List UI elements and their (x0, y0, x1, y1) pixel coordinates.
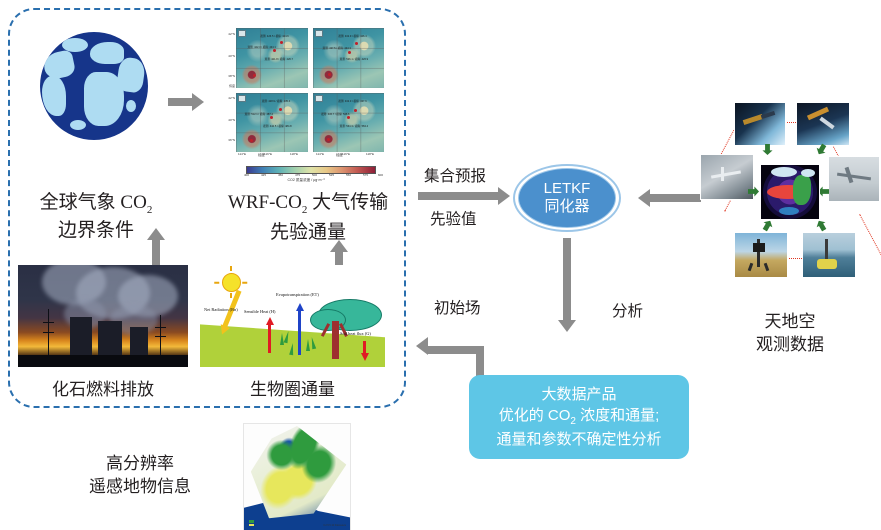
bigdata-line-2: 优化的 CO2 浓度和通量; (499, 405, 660, 429)
satellite-tile-top-right (796, 102, 850, 146)
label-evapotranspiration: Evapotranspiration (ET) (276, 292, 319, 297)
plot-panel-c: 观测: 428.9 / 模拟: 435.4 观测: 512.1 / 模拟: 48… (236, 93, 308, 153)
biosphere-flux-diagram: Net Radiation (Rn) Sensible Heat (H) Eva… (200, 265, 385, 367)
panel-letter-d (315, 95, 323, 102)
label-prior-flux: 先验通量 (212, 220, 404, 246)
observation-network-collage (704, 106, 876, 276)
sensible-heat-arrow (267, 317, 272, 353)
label-analysis: 分析 (612, 299, 643, 321)
label-global-boundary: 全球气象 CO2 边界条件 (34, 190, 158, 244)
panel-letter-b (315, 30, 323, 37)
label-fossil-fuel: 化石燃料排放 (18, 378, 188, 401)
label-wrf-transport: WRF-CO2 大气传输 (212, 190, 404, 218)
sun-icon (222, 273, 241, 292)
tower-station-tile-bottom-left (734, 232, 788, 278)
panel-letter-a (238, 30, 246, 37)
wrf-co2-simulation-panels: 42°N 40°N 38°N 纬度 42°N 40°N 36°N 观测: 426… (222, 28, 390, 180)
inward-arrow-bottom-left (760, 218, 775, 233)
arrow-ensemble-to-letkf (418, 187, 514, 205)
soil-heat-flux-arrow (360, 341, 369, 363)
plot-panel-d: 观测: 432.3 / 模拟: 437.6 观测: 436.7 / 模拟: 54… (313, 93, 385, 153)
global-ocean-map-tile (760, 164, 820, 220)
bigdata-line-3: 通量和参数不确定性分析 (496, 429, 661, 450)
label-prior-value: 先验值 (430, 207, 477, 229)
tree-trunk (332, 321, 339, 359)
plot-x-axis: 114°E 116°E 118°E 114°E 116°E 118°E 经度 经… (236, 152, 384, 164)
bigdata-line-1: 大数据产品 (541, 384, 616, 405)
landcover-map-thumbnail: 0 2.5 5 10 Kilometers (243, 423, 351, 530)
globe-icon (40, 32, 148, 140)
plot-panel-a: 观测: 426.5 / 模拟: 424.6 观测: 442.3 / 模拟: 43… (236, 28, 308, 88)
aircraft-tile-right (828, 156, 880, 202)
letkf-label: LETKF 同化器 (513, 164, 621, 232)
connector-bottom-right (859, 214, 881, 259)
label-net-radiation: Net Radiation (Rn) (204, 307, 238, 312)
label-sensible-heat: Sensible Heat (H) (244, 309, 275, 314)
ocean-buoy-tile-bottom-right (802, 232, 856, 278)
arrow-fossil-to-wrf (147, 228, 165, 268)
label-biosphere-flux: 生物圈通量 (200, 378, 385, 401)
bigdata-product-box[interactable]: 大数据产品 优化的 CO2 浓度和通量; 通量和参数不确定性分析 (469, 375, 689, 459)
arrow-observations-to-letkf (638, 189, 702, 207)
arrow-letkf-to-bigdata (558, 238, 576, 334)
satellite-tile-top-left (734, 102, 786, 146)
label-ensemble-forecast: 集合预报 (424, 164, 486, 186)
panel-letter-c (238, 95, 246, 102)
inward-arrow-bottom-right (814, 218, 829, 233)
map-legend (249, 517, 254, 528)
colorbar-label: CO2 质量浓度 / μg·m⁻³ (222, 178, 390, 183)
evapotranspiration-arrow (297, 303, 302, 355)
fossil-fuel-power-plant-photo (18, 265, 188, 367)
plot-grid: 观测: 426.5 / 模拟: 424.6 观测: 442.3 / 模拟: 43… (236, 28, 384, 152)
label-remote-sensing: 高分辨率 遥感地物信息 (50, 452, 230, 499)
arrow-globe-to-wrf (168, 93, 208, 111)
map-scalebar: 0 2.5 5 10 Kilometers (323, 524, 346, 527)
label-observations: 天地空 观测数据 (700, 310, 880, 357)
plot-panel-b: 观测: 432.9 / 模拟: 426.4 观测: 437.5 / 模拟: 44… (313, 28, 385, 88)
plot-y-axis: 42°N 40°N 38°N 纬度 42°N 40°N 36°N (222, 28, 236, 152)
diagram-canvas: 42°N 40°N 38°N 纬度 42°N 40°N 36°N 观测: 426… (0, 0, 881, 530)
aircraft-tile-left (700, 154, 754, 200)
label-soil-heat-flux: Soil heat flux (G) (340, 331, 371, 336)
letkf-assimilator-node[interactable]: LETKF 同化器 (513, 164, 621, 232)
label-initial-field: 初始场 (434, 296, 481, 318)
